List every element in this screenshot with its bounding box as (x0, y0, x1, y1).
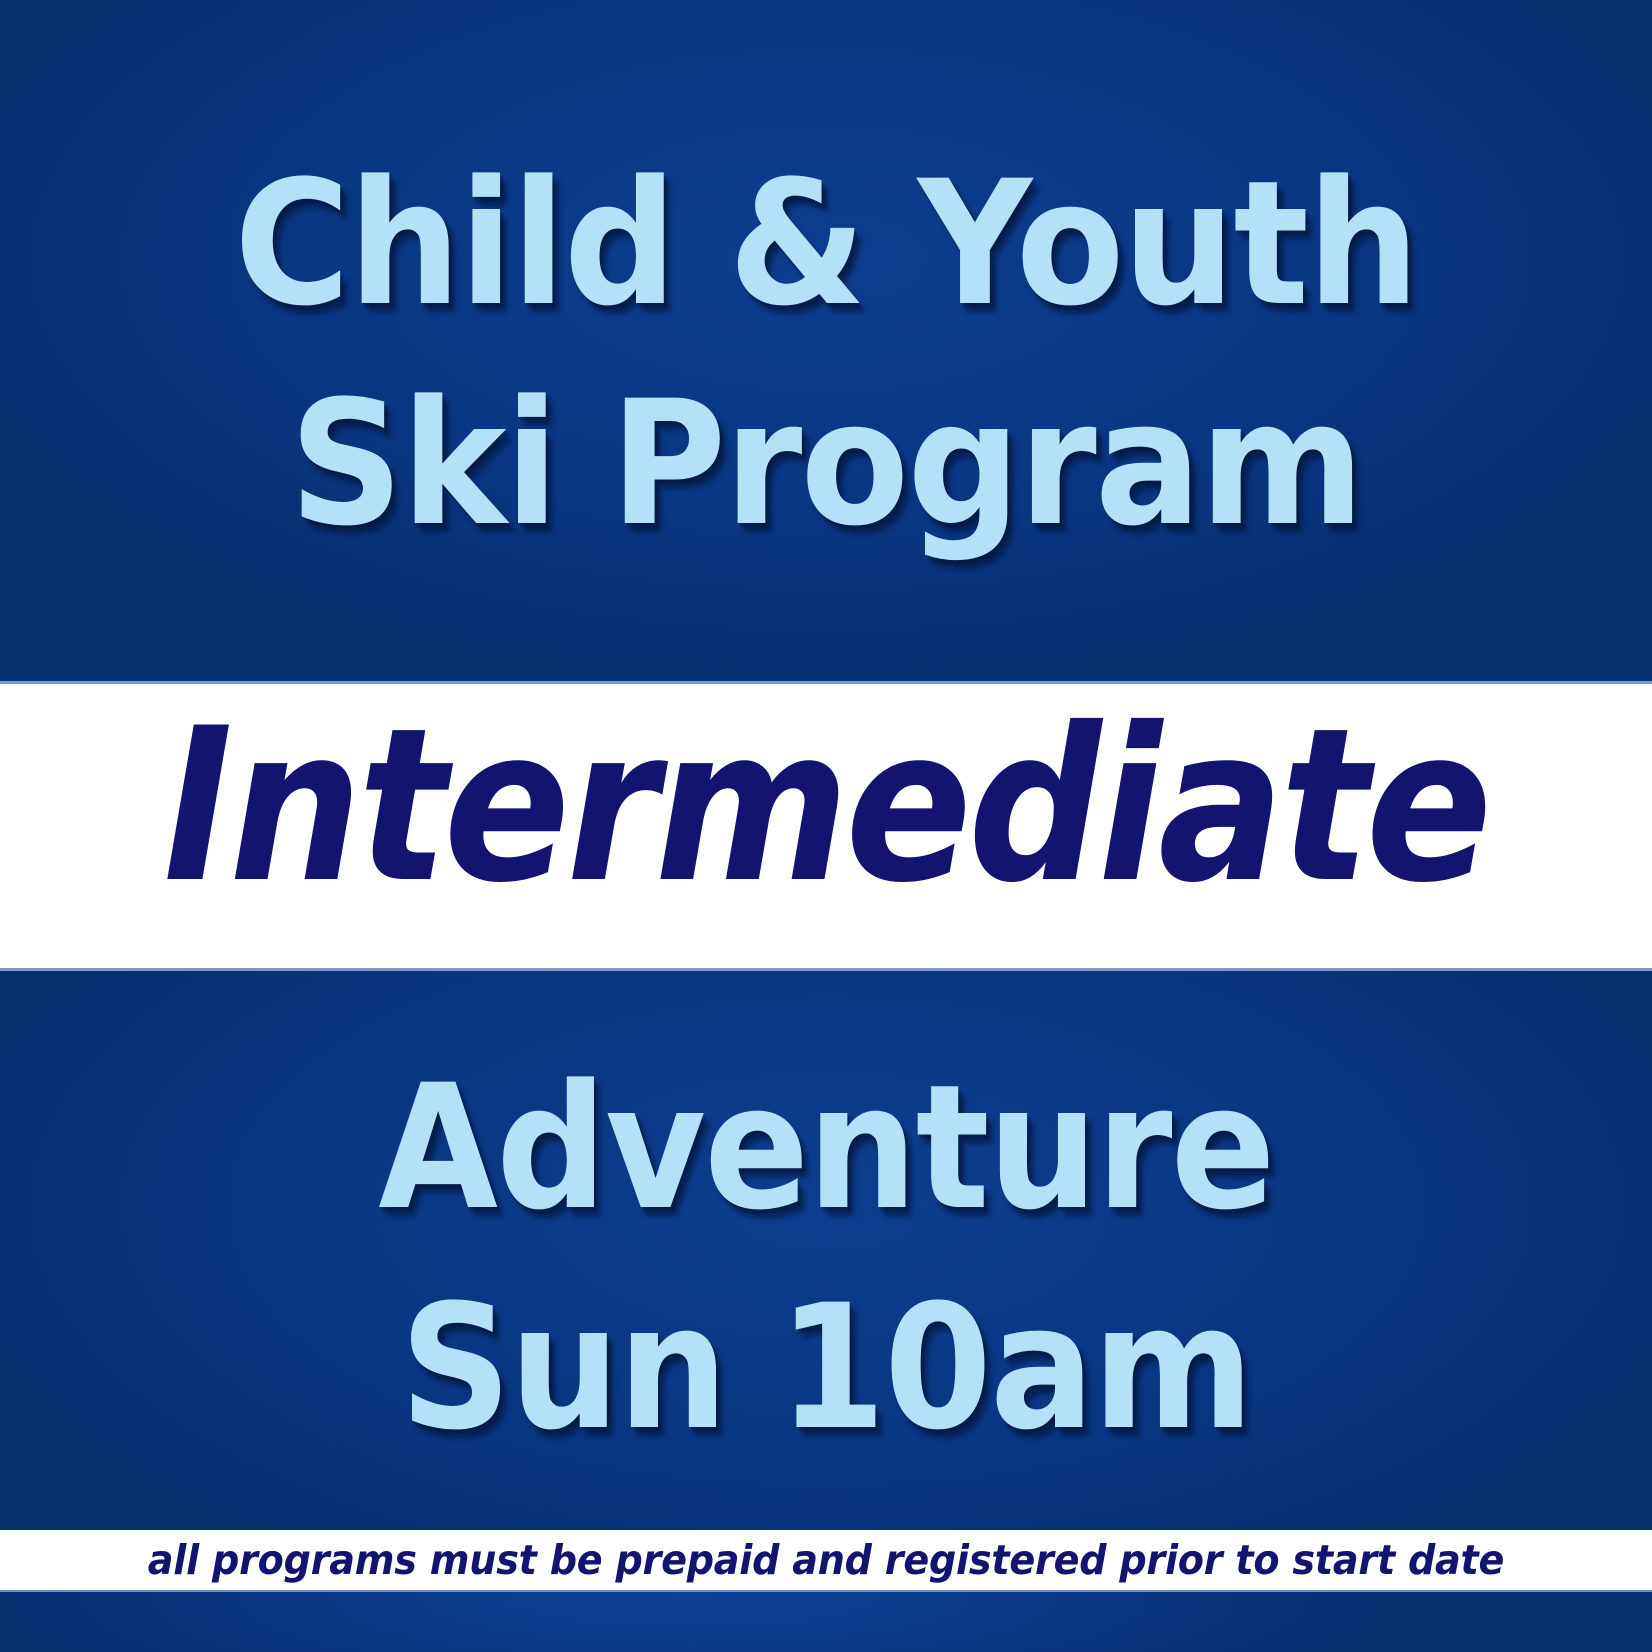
program-title-line-2: Ski Program (66, 378, 1586, 550)
footer-band (0, 1590, 1652, 1652)
program-level-label: Intermediate (99, 700, 1553, 912)
program-schedule-label: Sun 10am (83, 1282, 1570, 1454)
program-name-label: Adventure (83, 1062, 1570, 1234)
program-title-line-1: Child & Youth (66, 158, 1586, 330)
prepayment-notice: all programs must be prepaid and registe… (58, 1536, 1594, 1584)
ski-program-poster: Child & Youth Ski Program Intermediate A… (0, 0, 1652, 1652)
